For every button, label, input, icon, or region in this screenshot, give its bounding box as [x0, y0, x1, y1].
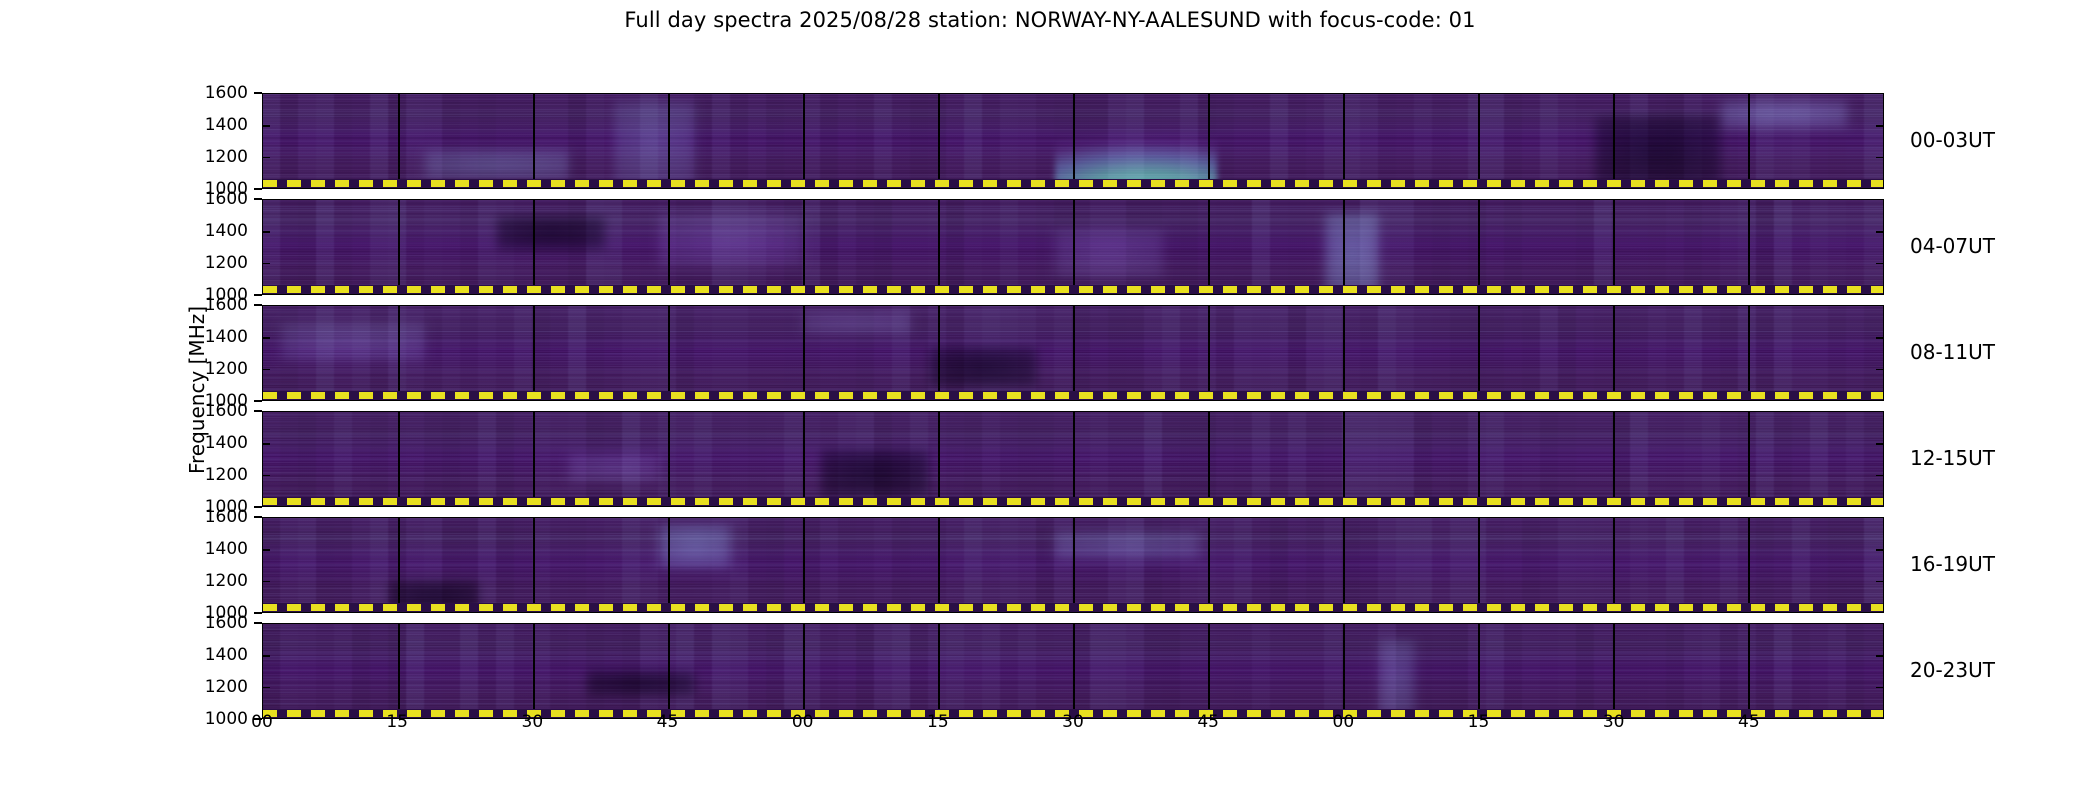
- x-gridline: [668, 94, 670, 188]
- y-tick-mark: [263, 157, 270, 159]
- spectral-feature: [281, 322, 425, 361]
- x-tick-label: 00: [232, 712, 292, 732]
- y-tick-label: 1200: [158, 359, 248, 379]
- x-gridline: [1208, 624, 1210, 718]
- x-gridline: [533, 624, 535, 718]
- y-tick-label: 1200: [158, 147, 248, 167]
- x-gridline: [398, 518, 400, 612]
- y-tick-label: 1400: [158, 433, 248, 453]
- spectrogram-panel: [262, 93, 1884, 189]
- row-label: 12-15UT: [1910, 446, 1995, 470]
- dashed-marker-line: [263, 604, 1883, 611]
- spectral-feature: [497, 216, 605, 250]
- row-label: 20-23UT: [1910, 658, 1995, 682]
- x-tick-label: 30: [1043, 712, 1103, 732]
- x-gridline: [803, 200, 805, 294]
- x-gridline: [668, 412, 670, 506]
- x-gridline: [1343, 518, 1345, 612]
- y-tick-label: 1400: [158, 221, 248, 241]
- x-gridline: [668, 200, 670, 294]
- y-tick-mark: [1876, 443, 1883, 445]
- x-gridline: [803, 518, 805, 612]
- y-tick-mark: [1876, 125, 1883, 127]
- y-tick-mark: [254, 612, 262, 614]
- x-gridline: [1343, 306, 1345, 400]
- x-tick-label: 30: [502, 712, 562, 732]
- spectral-feature: [1721, 100, 1847, 128]
- x-gridline: [1613, 518, 1615, 612]
- x-gridline: [803, 412, 805, 506]
- x-gridline: [1748, 624, 1750, 718]
- x-gridline: [668, 518, 670, 612]
- y-tick-label: 1200: [158, 465, 248, 485]
- x-gridline: [938, 200, 940, 294]
- y-tick-mark: [263, 443, 270, 445]
- x-gridline: [938, 624, 940, 718]
- spectrogram-panel: [262, 517, 1884, 613]
- row-label: 08-11UT: [1910, 340, 1995, 364]
- spectrogram-panel: [262, 305, 1884, 401]
- x-gridline: [1613, 412, 1615, 506]
- x-tick-label: 00: [773, 712, 833, 732]
- y-tick-mark: [1876, 231, 1883, 233]
- x-tick-label: 15: [1449, 712, 1509, 732]
- y-tick-mark: [1876, 687, 1883, 689]
- y-tick-mark: [1876, 263, 1883, 265]
- y-tick-mark: [254, 92, 262, 94]
- spectral-feature: [659, 524, 731, 568]
- y-tick-mark: [254, 188, 262, 190]
- x-gridline: [1343, 624, 1345, 718]
- spectral-feature: [659, 213, 803, 266]
- x-gridline: [1478, 200, 1480, 294]
- x-gridline: [1073, 412, 1075, 506]
- spectral-feature: [821, 450, 929, 497]
- x-gridline: [803, 94, 805, 188]
- x-gridline: [1748, 518, 1750, 612]
- x-tick-label: 30: [1584, 712, 1644, 732]
- y-tick-label: 1600: [158, 401, 248, 421]
- y-tick-mark: [263, 337, 270, 339]
- spectral-feature: [587, 671, 695, 696]
- x-gridline: [1073, 624, 1075, 718]
- y-tick-mark: [263, 263, 270, 265]
- y-tick-mark: [263, 369, 270, 371]
- y-tick-mark: [254, 410, 262, 412]
- x-gridline: [1208, 200, 1210, 294]
- spectral-feature: [1055, 228, 1163, 278]
- x-tick-label: 15: [367, 712, 427, 732]
- y-tick-mark: [263, 125, 270, 127]
- figure-canvas: Full day spectra 2025/08/28 station: NOR…: [0, 0, 2100, 800]
- dashed-marker-line: [263, 498, 1883, 505]
- x-gridline: [1613, 200, 1615, 294]
- x-gridline: [1343, 94, 1345, 188]
- x-tick-label: 45: [1178, 712, 1238, 732]
- x-gridline: [533, 518, 535, 612]
- x-gridline: [398, 624, 400, 718]
- x-gridline: [1478, 518, 1480, 612]
- x-gridline: [1478, 412, 1480, 506]
- x-gridline: [1073, 200, 1075, 294]
- y-tick-mark: [254, 506, 262, 508]
- x-gridline: [533, 200, 535, 294]
- x-tick-label: 15: [908, 712, 968, 732]
- x-gridline: [1748, 412, 1750, 506]
- y-tick-label: 1600: [158, 613, 248, 633]
- y-tick-mark: [263, 231, 270, 233]
- x-gridline: [398, 306, 400, 400]
- x-gridline: [668, 306, 670, 400]
- spectral-feature: [425, 150, 569, 178]
- x-tick-label: 00: [1313, 712, 1373, 732]
- x-gridline: [1613, 94, 1615, 188]
- x-gridline: [938, 306, 940, 400]
- y-tick-mark: [1876, 157, 1883, 159]
- x-gridline: [1613, 306, 1615, 400]
- x-gridline: [533, 306, 535, 400]
- x-gridline: [1748, 200, 1750, 294]
- spectrogram-panel: [262, 199, 1884, 295]
- x-gridline: [533, 412, 535, 506]
- x-gridline: [1478, 306, 1480, 400]
- y-tick-mark: [263, 549, 270, 551]
- y-tick-mark: [1876, 655, 1883, 657]
- y-tick-label: 1400: [158, 115, 248, 135]
- spectral-feature: [1379, 640, 1415, 718]
- x-gridline: [1208, 412, 1210, 506]
- spectrogram-panel: [262, 623, 1884, 719]
- y-tick-mark: [254, 198, 262, 200]
- y-tick-mark: [263, 581, 270, 583]
- y-tick-mark: [254, 304, 262, 306]
- x-gridline: [803, 624, 805, 718]
- y-tick-label: 1600: [158, 507, 248, 527]
- spectral-feature: [1325, 213, 1379, 294]
- y-tick-mark: [254, 516, 262, 518]
- row-label: 04-07UT: [1910, 234, 1995, 258]
- y-tick-label: 1200: [158, 571, 248, 591]
- y-tick-mark: [1876, 475, 1883, 477]
- y-tick-label: 1600: [158, 295, 248, 315]
- y-tick-label: 1400: [158, 645, 248, 665]
- x-gridline: [398, 200, 400, 294]
- x-gridline: [1748, 94, 1750, 188]
- row-label: 00-03UT: [1910, 128, 1995, 152]
- x-gridline: [803, 306, 805, 400]
- x-gridline: [1613, 624, 1615, 718]
- spectral-feature: [569, 454, 659, 482]
- x-gridline: [938, 518, 940, 612]
- x-gridline: [1208, 306, 1210, 400]
- x-gridline: [1073, 518, 1075, 612]
- dashed-marker-line: [263, 180, 1883, 187]
- y-tick-mark: [263, 655, 270, 657]
- y-tick-label: 1400: [158, 327, 248, 347]
- y-tick-mark: [1876, 337, 1883, 339]
- dashed-marker-line: [263, 392, 1883, 399]
- x-gridline: [1208, 518, 1210, 612]
- x-gridline: [1073, 306, 1075, 400]
- y-tick-mark: [263, 687, 270, 689]
- x-gridline: [1478, 94, 1480, 188]
- y-tick-label: 1200: [158, 253, 248, 273]
- dashed-marker-line: [263, 286, 1883, 293]
- y-tick-mark: [1876, 581, 1883, 583]
- x-gridline: [668, 624, 670, 718]
- x-tick-label: 45: [1719, 712, 1779, 732]
- x-gridline: [1748, 306, 1750, 400]
- y-tick-mark: [1876, 369, 1883, 371]
- x-gridline: [398, 94, 400, 188]
- x-gridline: [1343, 200, 1345, 294]
- spectrogram-panel: [262, 411, 1884, 507]
- spectral-feature: [614, 100, 695, 185]
- x-gridline: [1208, 94, 1210, 188]
- y-tick-mark: [254, 400, 262, 402]
- y-tick-label: 1600: [158, 189, 248, 209]
- x-gridline: [1073, 94, 1075, 188]
- y-tick-label: 1400: [158, 539, 248, 559]
- x-gridline: [1343, 412, 1345, 506]
- spectral-feature: [1055, 531, 1199, 561]
- x-gridline: [533, 94, 535, 188]
- x-tick-label: 45: [638, 712, 698, 732]
- y-tick-mark: [263, 475, 270, 477]
- x-gridline: [938, 94, 940, 188]
- y-tick-label: 1200: [158, 677, 248, 697]
- x-gridline: [938, 412, 940, 506]
- spectral-feature: [929, 347, 1037, 388]
- y-tick-mark: [254, 294, 262, 296]
- figure-title: Full day spectra 2025/08/28 station: NOR…: [0, 8, 2100, 32]
- x-gridline: [1478, 624, 1480, 718]
- row-label: 16-19UT: [1910, 552, 1995, 576]
- y-tick-label: 1600: [158, 83, 248, 103]
- y-tick-mark: [1876, 549, 1883, 551]
- x-gridline: [398, 412, 400, 506]
- spectral-feature: [803, 312, 911, 334]
- y-tick-mark: [254, 622, 262, 624]
